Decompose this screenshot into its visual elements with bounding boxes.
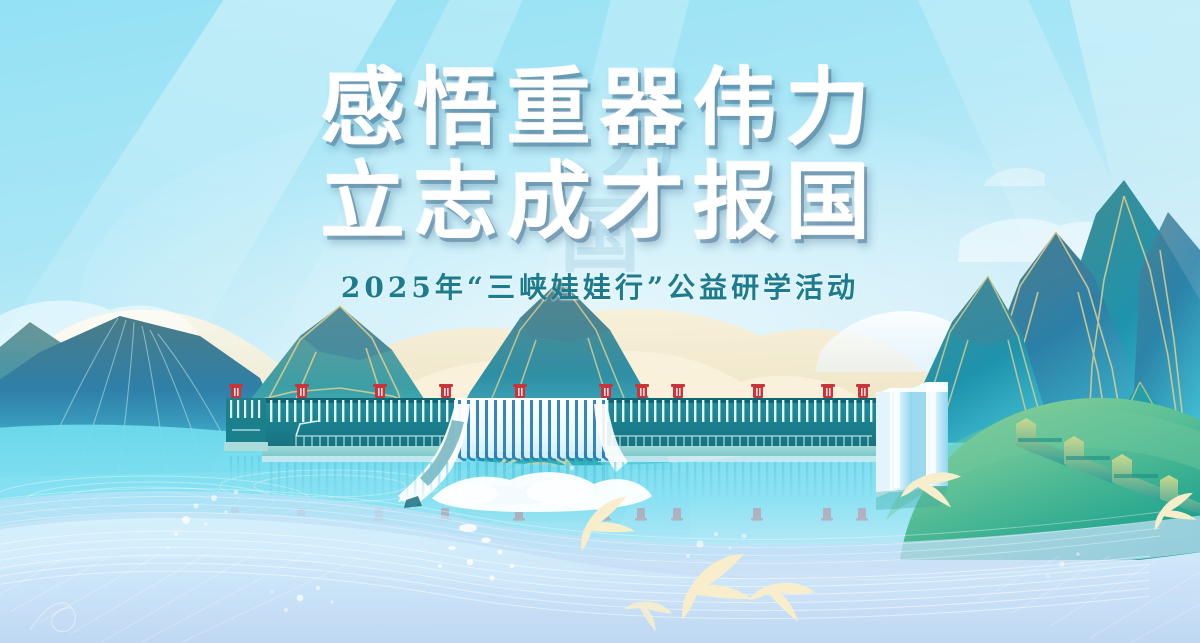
boat-silhouette	[404, 496, 422, 508]
foreground-water	[0, 0, 1200, 643]
banner-root: 力 国 感悟重器伟力 立志成才报国 2025年“三峡娃娃行”公益研学活动	[0, 0, 1200, 643]
